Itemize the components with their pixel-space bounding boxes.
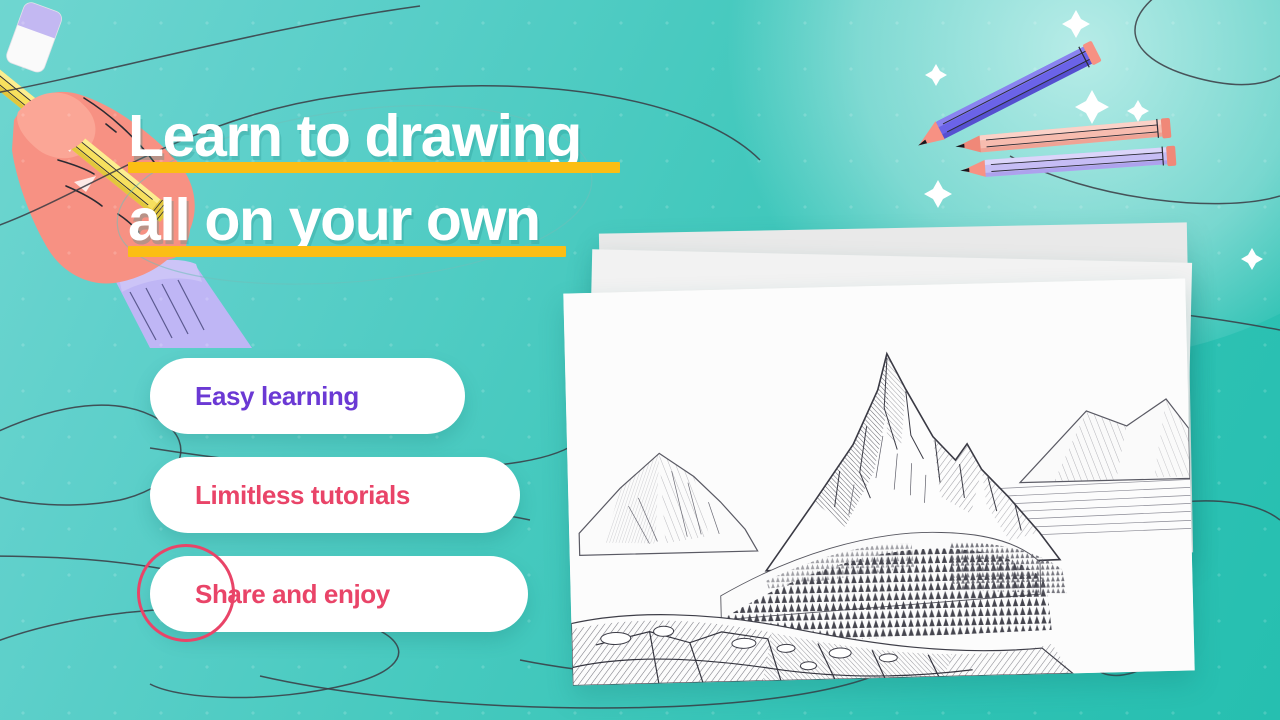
headline-underline-1 [128,162,620,173]
lilac-pencil [955,138,1185,188]
paper-stack [560,228,1220,678]
feature-pill-easy-learning[interactable]: Easy learning [150,358,465,434]
mountain-sketch-artwork [563,278,1194,685]
feature-pill-limitless-tutorials[interactable]: Limitless tutorials [150,457,520,533]
feature-pill-list: Easy learning Limitless tutorials Share … [150,358,570,655]
paper-sheet-front [563,278,1194,685]
feature-pill-label: Limitless tutorials [150,480,410,511]
headline-row-1: Learn to drawing [128,104,688,168]
pill-accent-ring [137,544,235,642]
headline-underline-2 [128,246,566,257]
feature-pill-share-and-enjoy[interactable]: Share and enjoy [150,556,528,632]
feature-pill-label: Easy learning [150,381,359,412]
headline-line-1: Learn to drawing [128,104,688,168]
banner-canvas: Learn to drawing all on your own Easy le… [0,0,1280,720]
eraser [0,0,72,76]
